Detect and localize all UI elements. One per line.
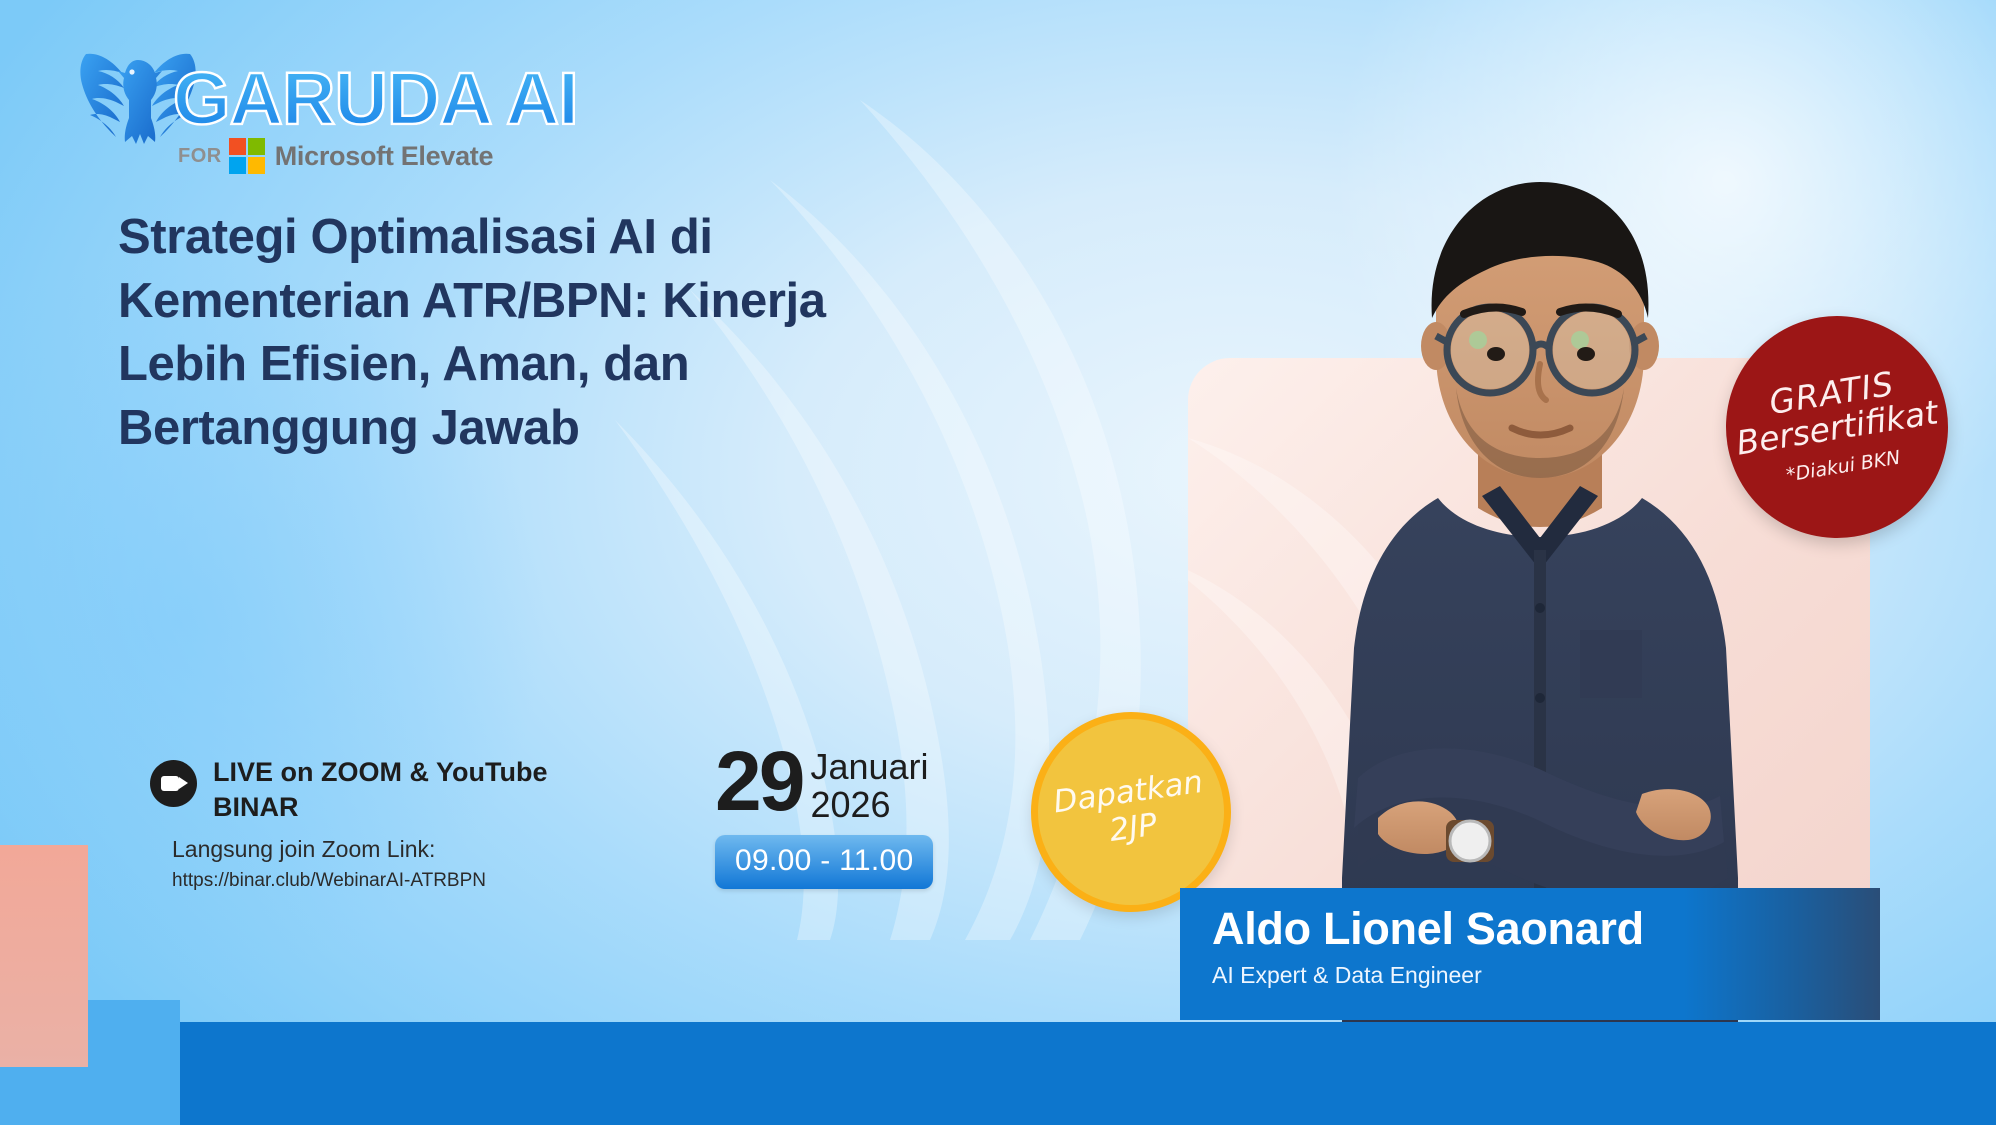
for-label: FOR — [178, 145, 222, 168]
live-heading-row: LIVE on ZOOM & YouTube BINAR — [150, 755, 570, 824]
zoom-link-label: Langsung join Zoom Link: — [172, 834, 570, 866]
ms-square-blue — [229, 157, 246, 174]
live-title: LIVE on ZOOM & YouTube BINAR — [213, 755, 570, 824]
brand-subline: FOR Microsoft Elevate — [178, 138, 493, 174]
live-info-block: LIVE on ZOOM & YouTube BINAR Langsung jo… — [150, 755, 570, 892]
speaker-role: AI Expert & Data Engineer — [1212, 962, 1880, 989]
event-year: 2026 — [810, 784, 890, 825]
badge-credit-line2: 2JP — [1107, 806, 1159, 851]
microsoft-logo-icon — [229, 138, 265, 174]
decor-bottom-blue-bar — [180, 1022, 1996, 1125]
month-year-group: Januari 2026 — [810, 749, 928, 825]
webinar-promo-banner: GARUDA AI GARUDA AI FOR Microsoft Elevat… — [0, 0, 1996, 1125]
brand-wordmark: GARUDA AI — [173, 62, 578, 136]
date-row: 29 Januari 2026 — [715, 745, 933, 825]
zoom-link-url[interactable]: https://binar.club/WebinarAI-ATRBPN — [172, 870, 570, 892]
brand-logo[interactable]: GARUDA AI GARUDA AI FOR Microsoft Elevat… — [78, 34, 598, 164]
ms-square-red — [229, 138, 246, 155]
microsoft-elevate-label: Microsoft Elevate — [275, 141, 493, 172]
event-date-block: 29 Januari 2026 09.00 - 11.00 — [715, 745, 933, 889]
event-day: 29 — [715, 745, 802, 819]
event-time-badge: 09.00 - 11.00 — [715, 835, 933, 889]
ms-square-yellow — [248, 157, 265, 174]
speaker-name: Aldo Lionel Saonard — [1212, 904, 1880, 954]
page-title: Strategi Optimalisasi AI di Kementerian … — [118, 206, 878, 461]
video-camera-icon — [150, 760, 197, 807]
speaker-name-bar: Aldo Lionel Saonard AI Expert & Data Eng… — [1180, 888, 1880, 1020]
decor-peach-block — [0, 845, 88, 1067]
decor-light-blue-strip — [0, 1067, 180, 1125]
ms-square-green — [248, 138, 265, 155]
event-month: Januari — [810, 746, 928, 787]
